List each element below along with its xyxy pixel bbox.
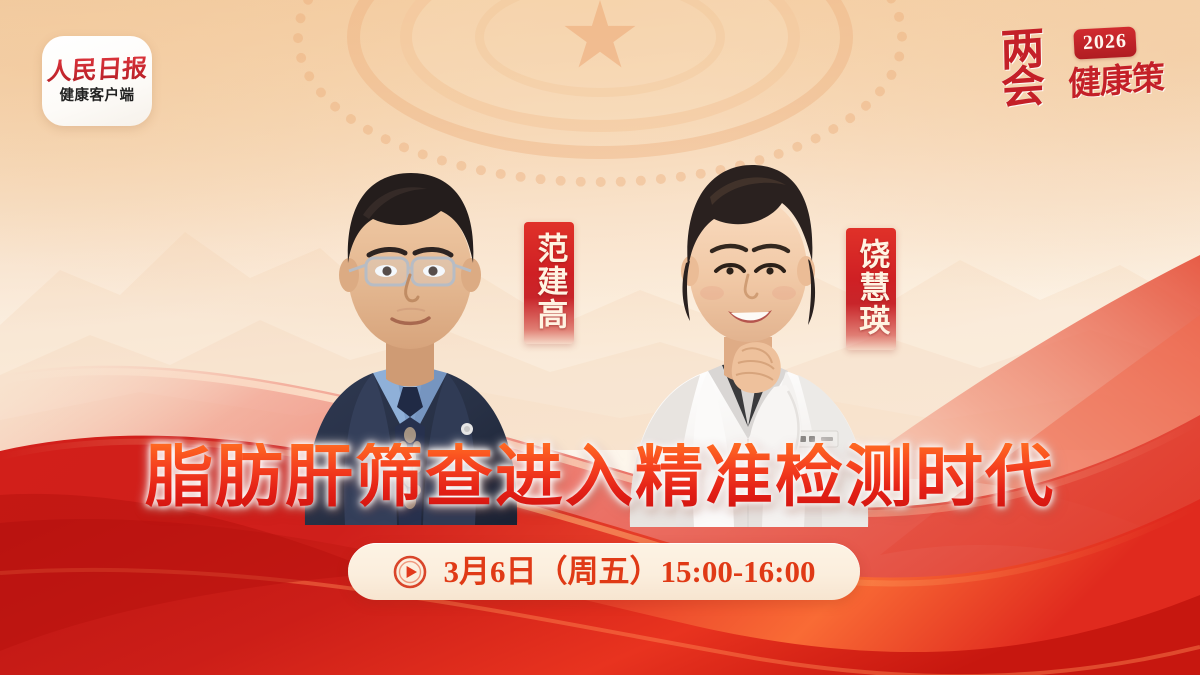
guest-name-left: 范建高 bbox=[533, 232, 566, 331]
schedule-text: 3月6日（周五）15:00-16:00 bbox=[444, 556, 816, 587]
livestream-poster: 人民日报 健康客户端 两会 2026 健康策 bbox=[0, 0, 1200, 675]
guest-name-tag-right: 饶慧瑛 bbox=[846, 228, 896, 350]
poster-title: 脂肪肝筛查进入精准检测时代 bbox=[0, 443, 1200, 511]
campaign-theme-text: 健康策 bbox=[1068, 63, 1164, 103]
peoples-daily-health-logo[interactable]: 人民日报 健康客户端 bbox=[42, 36, 152, 126]
campaign-badge: 两会 2026 健康策 bbox=[996, 22, 1186, 122]
emblem-ring-inner bbox=[400, 0, 800, 132]
emblem-ring-core bbox=[475, 0, 725, 97]
play-circle-icon[interactable] bbox=[393, 555, 427, 589]
campaign-year-badge: 2026 bbox=[1073, 26, 1136, 59]
guest-name-tag-left: 范建高 bbox=[524, 222, 574, 344]
schedule-pill[interactable]: 3月6日（周五）15:00-16:00 bbox=[348, 543, 860, 600]
logo-product-text: 健康客户端 bbox=[60, 89, 135, 104]
logo-brand-text: 人民日报 bbox=[46, 57, 148, 85]
campaign-title-text: 两会 bbox=[997, 25, 1037, 104]
guest-name-right: 饶慧瑛 bbox=[855, 238, 888, 337]
star-icon bbox=[563, 0, 637, 74]
